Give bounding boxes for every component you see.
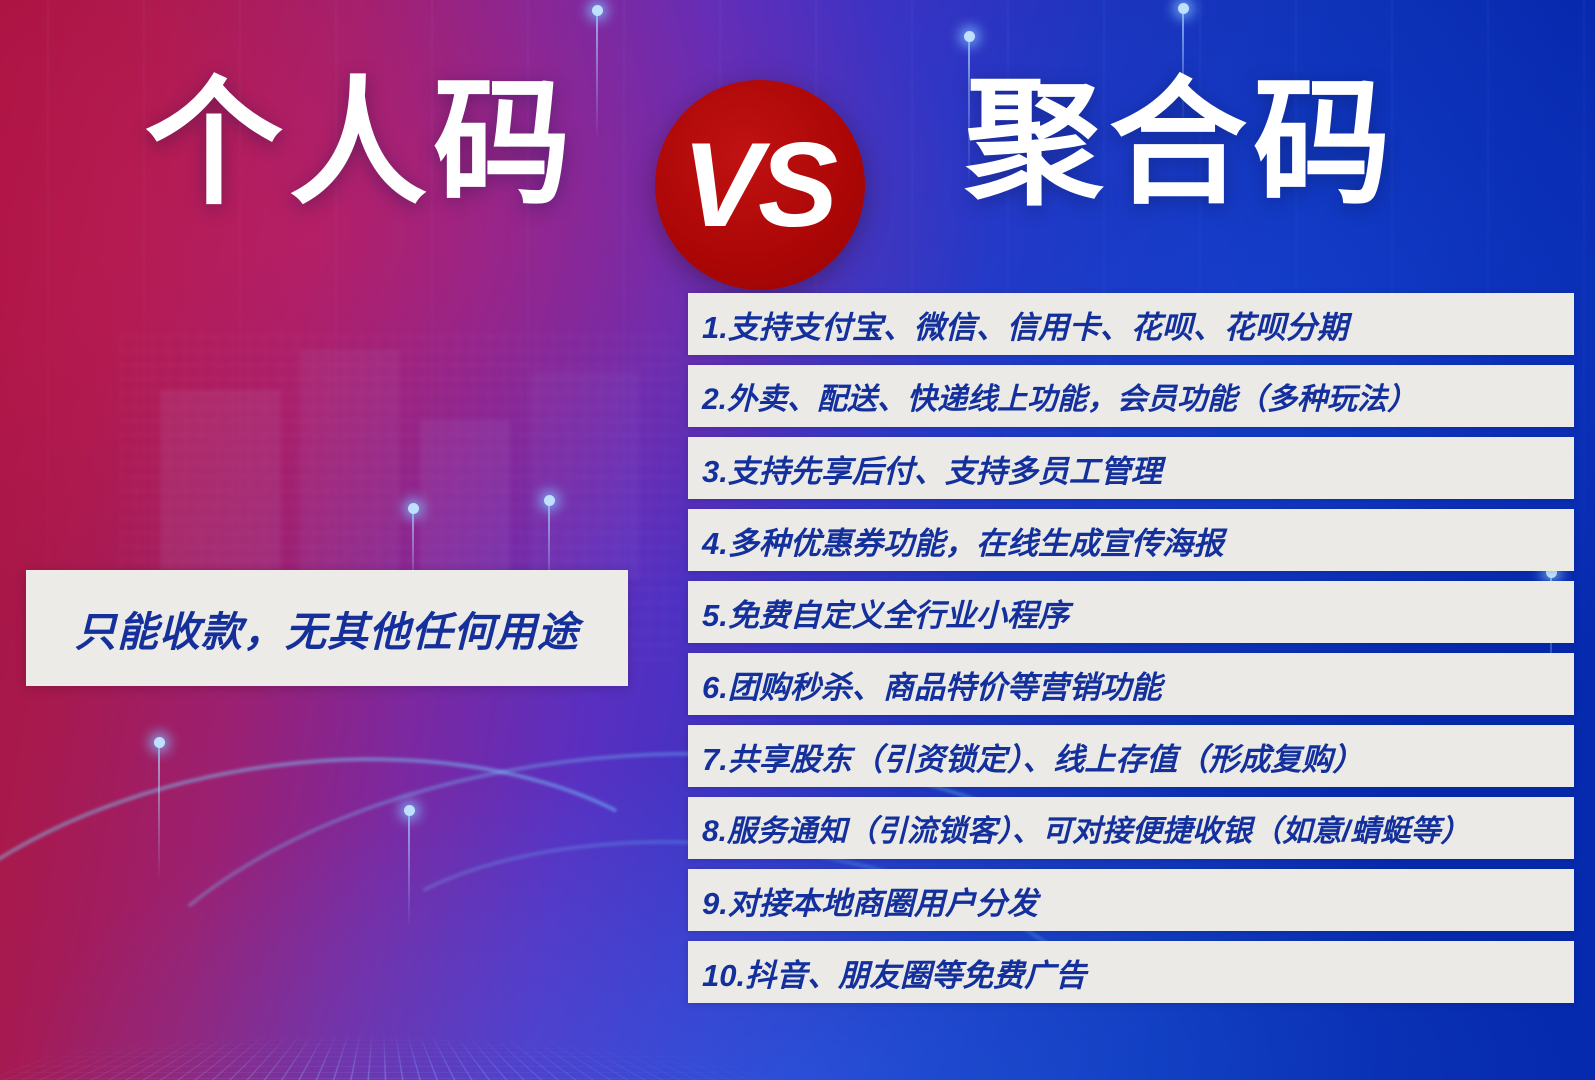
poster-root: 个人码 VS 聚合码 只能收款，无其他任何用途 1.支持支付宝、微信、信用卡、花… <box>0 0 1595 1080</box>
feature-row: 1.支持支付宝、微信、信用卡、花呗、花呗分期 <box>688 293 1574 355</box>
feature-row: 9.对接本地商圈用户分发 <box>688 869 1574 931</box>
feature-text: 1.支持支付宝、微信、信用卡、花呗、花呗分期 <box>702 302 1348 347</box>
vs-label: VS <box>682 125 838 245</box>
right-title: 聚合码 <box>965 58 1397 230</box>
left-title: 个人码 <box>145 58 577 230</box>
feature-row: 5.免费自定义全行业小程序 <box>688 581 1574 643</box>
left-note-box: 只能收款，无其他任何用途 <box>26 570 628 686</box>
glow-pin-icon <box>408 810 410 928</box>
left-note-text: 只能收款，无其他任何用途 <box>75 598 579 658</box>
glow-pin-icon <box>158 742 160 882</box>
feature-text: 4.多种优惠券功能，在线生成宣传海报 <box>702 518 1224 563</box>
feature-row: 4.多种优惠券功能，在线生成宣传海报 <box>688 509 1574 571</box>
feature-row: 8.服务通知（引流锁客）、可对接便捷收银（如意/蜻蜓等） <box>688 797 1574 859</box>
feature-text: 5.免费自定义全行业小程序 <box>702 590 1069 635</box>
feature-row: 7.共享股东（引资锁定）、线上存值（形成复购） <box>688 725 1574 787</box>
feature-text: 9.对接本地商圈用户分发 <box>702 878 1038 923</box>
feature-list: 1.支持支付宝、微信、信用卡、花呗、花呗分期 2.外卖、配送、快递线上功能，会员… <box>688 293 1574 1013</box>
feature-text: 10.抖音、朋友圈等免费广告 <box>702 950 1086 995</box>
feature-text: 6.团购秒杀、商品特价等营销功能 <box>702 662 1162 707</box>
feature-row: 10.抖音、朋友圈等免费广告 <box>688 941 1574 1003</box>
feature-text: 2.外卖、配送、快递线上功能，会员功能（多种玩法） <box>702 374 1417 418</box>
feature-row: 2.外卖、配送、快递线上功能，会员功能（多种玩法） <box>688 365 1574 427</box>
feature-row: 6.团购秒杀、商品特价等营销功能 <box>688 653 1574 715</box>
vs-badge: VS <box>655 80 865 290</box>
feature-text: 3.支持先享后付、支持多员工管理 <box>702 446 1162 491</box>
poster-header: 个人码 VS 聚合码 <box>0 58 1595 238</box>
feature-text: 7.共享股东（引资锁定）、线上存值（形成复购） <box>702 734 1363 779</box>
feature-row: 3.支持先享后付、支持多员工管理 <box>688 437 1574 499</box>
feature-text: 8.服务通知（引流锁客）、可对接便捷收银（如意/蜻蜓等） <box>702 806 1470 850</box>
